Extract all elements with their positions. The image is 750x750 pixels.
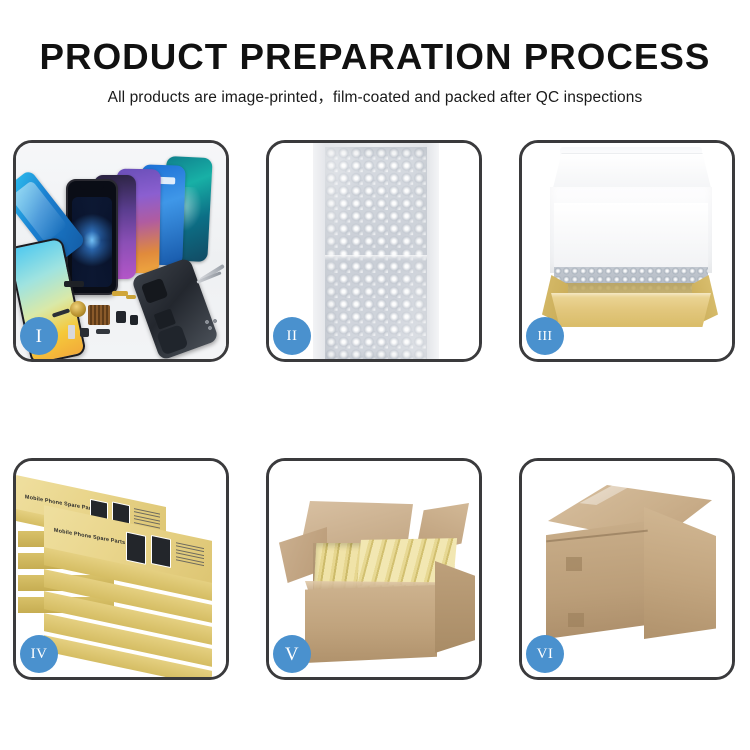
step-panel-3: III (519, 140, 735, 362)
step-panel-1: I (13, 140, 229, 362)
carton-hand-hole-upper (566, 557, 582, 571)
step-panel-4: Mobile Phone Spare Parts Mobile Phone S (13, 458, 229, 680)
box-window-right (151, 535, 171, 568)
vibrator-icon (130, 315, 138, 325)
box-window-left (126, 532, 146, 565)
steps-grid: I II III (13, 140, 737, 682)
carton-hand-hole-lower (568, 613, 584, 627)
step-badge-2: II (273, 317, 311, 355)
step-badge-3: III (526, 317, 564, 355)
box-front-wall (546, 293, 716, 327)
wrap-gloss (325, 147, 427, 359)
sealed-carton-side (644, 507, 716, 639)
foam-sheet-icon (554, 203, 708, 267)
product-preparation-infographic: PRODUCT PREPARATION PROCESS All products… (0, 0, 750, 750)
step-badge-5: V (273, 635, 311, 673)
flex-cable-icon (64, 281, 84, 287)
step-panel-6: VI (519, 458, 735, 680)
page-title: PRODUCT PREPARATION PROCESS (0, 0, 750, 76)
antenna-strip-icon (96, 329, 110, 334)
step-badge-1: I (20, 317, 58, 355)
screws-icon (204, 319, 220, 331)
carton-side-wall (435, 561, 475, 653)
chip-grid-icon (88, 305, 110, 325)
header: PRODUCT PREPARATION PROCESS All products… (0, 0, 750, 107)
gold-contact-icon (126, 295, 136, 299)
camera-module-icon (116, 311, 126, 323)
speaker-coil-icon (70, 301, 86, 317)
carton-front-wall (305, 585, 437, 663)
step-panel-5: V (266, 458, 482, 680)
sim-tray-icon (68, 325, 75, 339)
step-panel-2: II (266, 140, 482, 362)
step-badge-6: VI (526, 635, 564, 673)
page-subtitle: All products are image-printed，film-coat… (0, 76, 750, 107)
step-badge-4: IV (20, 635, 58, 673)
small-part-icon (80, 328, 89, 337)
